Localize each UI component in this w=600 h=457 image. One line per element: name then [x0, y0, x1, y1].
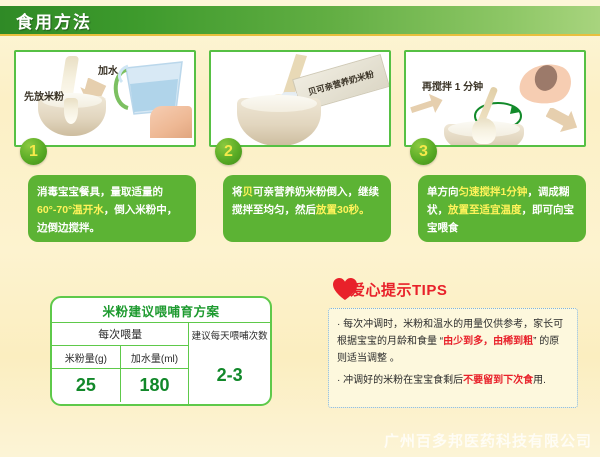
step-3-label-stir: 再搅拌 1 分钟 — [422, 78, 483, 93]
tip-2-text-b: 用. — [533, 375, 546, 386]
step-2-text-highlight-2: 放置30秒。 — [316, 204, 370, 216]
step-2-description: 将贝可亲营养奶米粉倒入，继续搅拌至均匀，然后放置30秒。 — [223, 175, 391, 242]
steps-row: 先放米粉 加水 1 消毒宝宝餐具，量取适量的60°-70°温开 — [0, 50, 600, 250]
powder-in-bowl — [64, 98, 78, 124]
hand-with-spoon — [506, 58, 578, 120]
step-2-text-a: 将 — [232, 186, 243, 198]
page-header: 食用方法 — [0, 6, 600, 36]
step-2-badge: 2 — [215, 138, 242, 165]
tip-1-text-red: 由少到多，由稀到粗 — [443, 336, 533, 347]
step-1-illustration: 先放米粉 加水 — [14, 50, 196, 147]
paste-in-bowl — [472, 118, 496, 144]
tips-box: · 每次冲调时，米粉和温水的用量仅供参考，家长可根据宝宝的月龄和食量 “由少到多… — [328, 308, 578, 408]
tips-title: 爱心提示TIPS — [350, 279, 447, 300]
step-2-label-product: 贝可亲营养奶米粉 — [307, 68, 376, 98]
step-1-text-highlight: 60°-70°温开水 — [37, 204, 104, 216]
hand — [150, 106, 192, 138]
table-header-rice-amount: 米粉量(g) — [52, 346, 121, 368]
tip-2-text-red: 不要留到下次食 — [463, 375, 533, 386]
step-1-label-add-water: 加水 — [98, 62, 118, 77]
arrow-right-icon — [410, 92, 444, 116]
tip-item-1: · 每次冲调时，米粉和温水的用量仅供参考，家长可根据宝宝的月龄和食量 “由少到多… — [337, 316, 569, 367]
step-2-text-highlight-1: 贝 — [243, 186, 254, 198]
company-watermark: 广州百多邦医药科技有限公司 — [384, 430, 592, 451]
step-3-illustration: 再搅拌 1 分钟 — [404, 50, 586, 147]
tip-2-text-a: · 冲调好的米粉在宝宝食剩后 — [337, 375, 463, 386]
tips-header: 爱心提示TIPS — [332, 276, 447, 302]
table-value-row: 25 180 — [52, 369, 188, 402]
step-3-description: 单方向匀速搅拌1分钟，调成糊状，放置至适宜温度，即可向宝宝喂食 — [418, 175, 586, 242]
step-1-label-rice-flour: 先放米粉 — [24, 88, 64, 103]
bowl-rim — [241, 95, 317, 112]
step-2-illustration: 贝可亲营养奶米粉 — [209, 50, 391, 147]
step-1: 先放米粉 加水 1 消毒宝宝餐具，量取适量的60°-70°温开 — [14, 50, 196, 250]
table-right-group: 建议每天喂哺次数 2-3 — [189, 323, 270, 404]
feeding-table: 米粉建议喂哺育方案 每次喂量 米粉量(g) 加水量(ml) 25 180 建议每… — [50, 296, 272, 406]
table-span-header-per-feeding: 每次喂量 — [52, 323, 188, 346]
table-value-daily-times: 2-3 — [189, 346, 270, 404]
table-left-group: 每次喂量 米粉量(g) 加水量(ml) 25 180 — [52, 323, 189, 404]
step-2: 贝可亲营养奶米粉 2 将贝可亲营养奶米粉倒入，继续搅拌至均匀，然后放置30秒。 — [209, 50, 391, 250]
table-sub-header-row: 米粉量(g) 加水量(ml) — [52, 346, 188, 369]
table-title: 米粉建议喂哺育方案 — [52, 298, 270, 323]
table-body: 每次喂量 米粉量(g) 加水量(ml) 25 180 建议每天喂哺次数 2-3 — [52, 323, 270, 404]
step-1-badge: 1 — [20, 138, 47, 165]
table-value-rice-amount: 25 — [52, 369, 121, 402]
table-value-water-amount: 180 — [121, 369, 189, 402]
tip-item-2: · 冲调好的米粉在宝宝食剩后不要留到下次食用. — [337, 372, 569, 389]
step-1-text-a: 消毒宝宝餐具，量取适量的 — [37, 186, 163, 198]
table-header-daily-times: 建议每天喂哺次数 — [189, 323, 270, 346]
step-3-text-a: 单方向 — [427, 186, 459, 198]
page-title: 食用方法 — [0, 8, 92, 33]
step-3: 再搅拌 1 分钟 3 — [404, 50, 586, 250]
step-3-badge: 3 — [410, 138, 437, 165]
step-1-description: 消毒宝宝餐具，量取适量的60°-70°温开水，倒入米粉中，边倒边搅拌。 — [28, 175, 196, 242]
step-3-text-highlight-1: 匀速搅拌1分钟 — [459, 186, 528, 198]
table-header-water-amount: 加水量(ml) — [121, 346, 189, 368]
step-3-text-highlight-2: 放置至适宜温度 — [448, 204, 522, 216]
